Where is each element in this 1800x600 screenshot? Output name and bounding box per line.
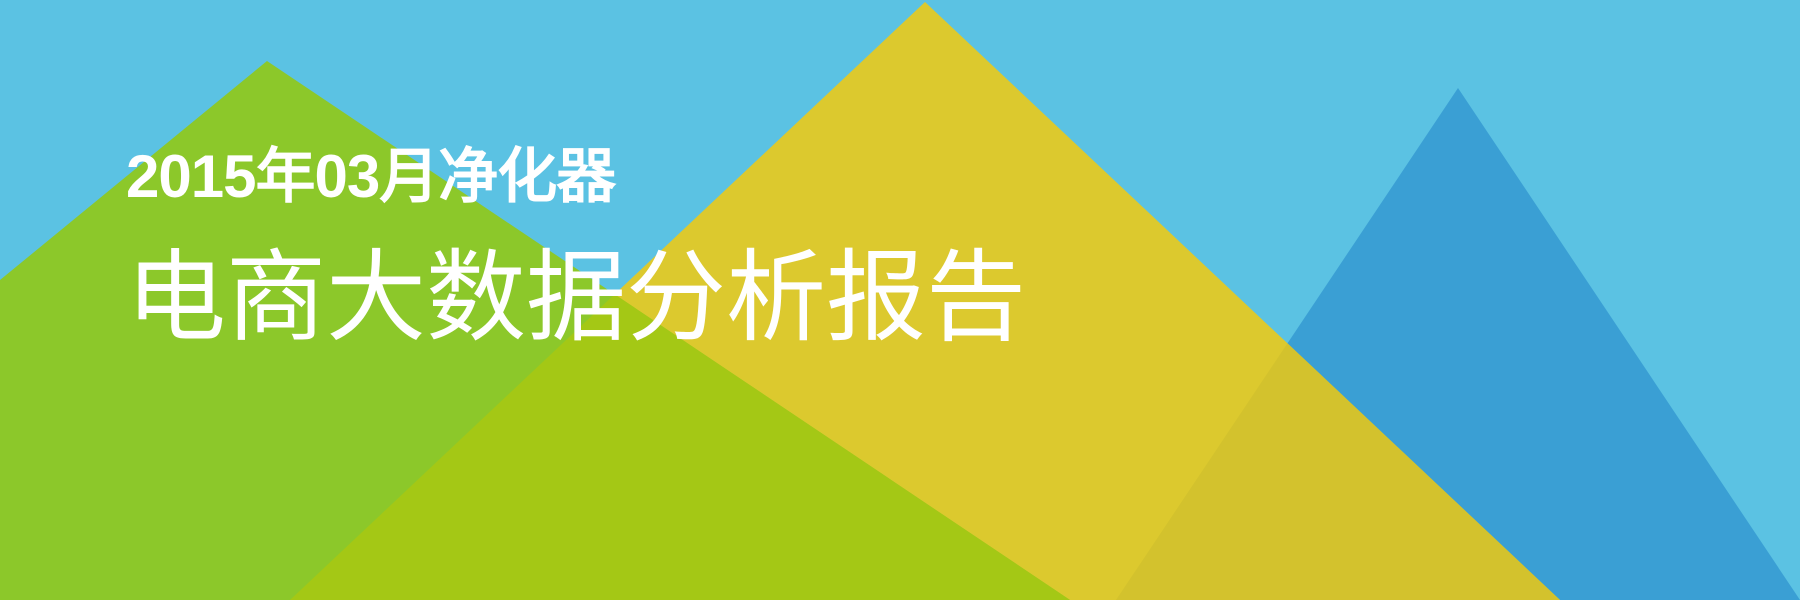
background-geometry xyxy=(0,0,1800,600)
report-cover-banner: 2015年03月净化器 电商大数据分析报告 xyxy=(0,0,1800,600)
